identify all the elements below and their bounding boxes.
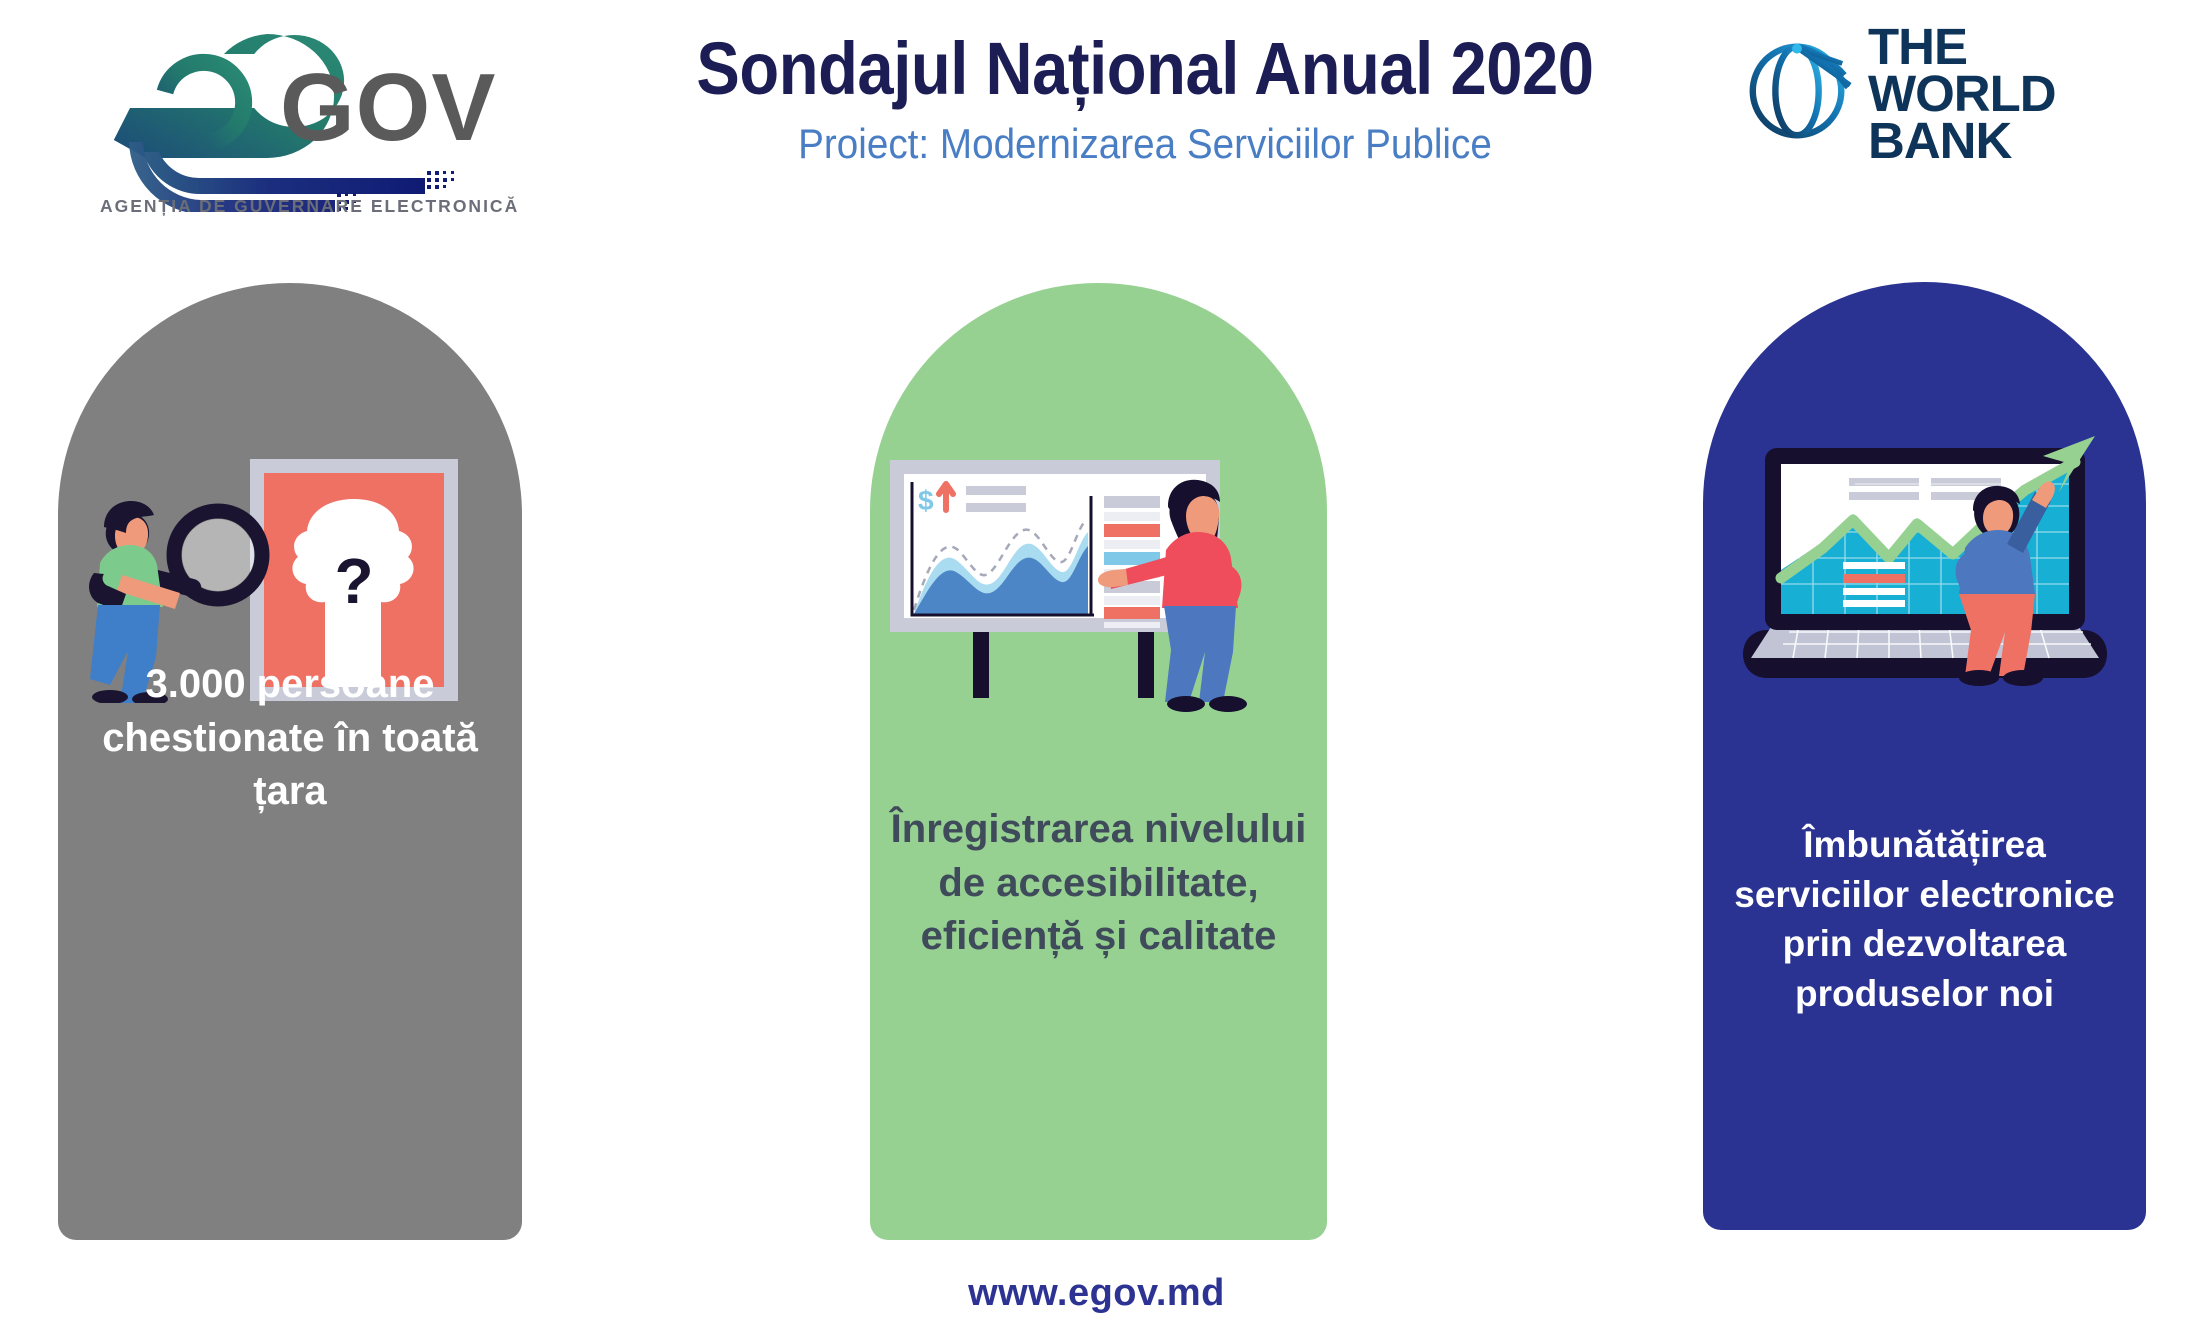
card-3-caption-line-1: Îmbunătățirea: [1715, 820, 2134, 870]
footer-website-url[interactable]: www.egov.md: [0, 1272, 2193, 1315]
title-block: Sondajul Național Anual 2020 Proiect: Mo…: [560, 30, 1730, 168]
info-card-measurement: $: [870, 283, 1327, 1240]
card-2-caption-line-2: de accesibilitate,: [882, 857, 1315, 911]
egov-wordmark: GOV: [280, 54, 495, 161]
card-1-caption-line-1: 3.000 persoane: [70, 658, 510, 712]
page-title: Sondajul Național Anual 2020: [630, 30, 1660, 108]
svg-text:$: $: [918, 485, 934, 516]
card-1-caption-line-2: chestionate în toată țara: [70, 712, 510, 819]
world-bank-line-1: THE: [1868, 24, 2056, 71]
world-bank-globe-icon: [1740, 30, 1858, 148]
card-2-caption-line-3: eficiență și calitate: [882, 910, 1315, 964]
card-3-illustration: [1703, 402, 2146, 702]
egov-swoosh-e-icon: GOV: [95, 22, 495, 212]
info-card-respondents: ? 3.000 persoane chestionate în toată ța…: [58, 283, 522, 1240]
card-2-caption-line-1: Înregistrarea nivelului: [882, 803, 1315, 857]
world-bank-wordmark: THE WORLD BANK: [1868, 24, 2056, 165]
page-subtitle: Proiect: Modernizarea Serviciilor Public…: [607, 120, 1683, 168]
card-3-caption: Îmbunătățirea serviciilor electronice pr…: [1703, 820, 2146, 1018]
egov-logo: GOV: [95, 22, 495, 212]
world-bank-line-3: BANK: [1868, 118, 2056, 165]
card-3-caption-line-2: serviciilor electronice: [1715, 870, 2134, 920]
card-3-caption-line-4: produselor noi: [1715, 969, 2134, 1019]
info-card-improvement: Îmbunătățirea serviciilor electronice pr…: [1703, 282, 2146, 1230]
world-bank-line-2: WORLD: [1868, 71, 2056, 118]
woman-presenting-chart-icon: $: [870, 438, 1327, 723]
svg-text:?: ?: [334, 545, 373, 617]
egov-agency-label: AGENȚIA DE GUVERNARE ELECTRONICĂ: [100, 196, 495, 217]
card-3-caption-line-3: prin dezvoltarea: [1715, 919, 2134, 969]
card-2-caption: Înregistrarea nivelului de accesibilitat…: [870, 803, 1327, 964]
world-bank-logo: THE WORLD BANK: [1740, 18, 2120, 198]
card-2-illustration: $: [870, 438, 1327, 723]
page-header: GOV AGENȚIA DE GUVERNARE ELECTRONICĂ Son…: [0, 0, 2193, 250]
card-1-caption: 3.000 persoane chestionate în toată țara: [58, 658, 522, 819]
man-on-laptop-growth-arrow-icon: [1703, 402, 2146, 702]
